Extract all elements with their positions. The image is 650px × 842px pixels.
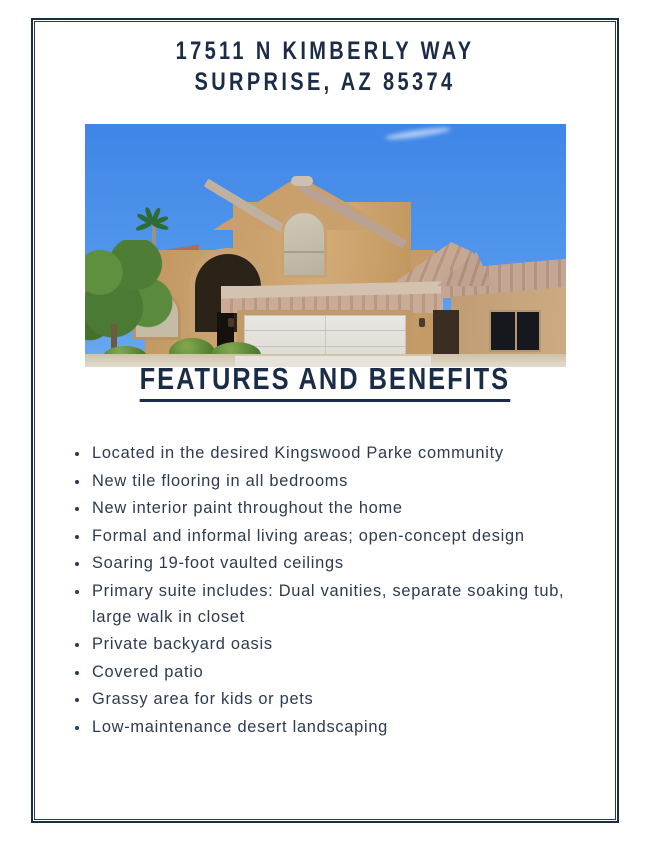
address-line-1: 17511 N KIMBERLY WAY	[92, 36, 558, 67]
gable-peak-cap	[291, 176, 313, 186]
coach-light-right	[419, 318, 425, 327]
features-section-heading: FEATURES AND BENEFITS	[34, 361, 616, 402]
property-photo	[85, 124, 566, 367]
list-item: Private backyard oasis	[70, 632, 590, 658]
arched-upper-window	[281, 210, 327, 278]
list-item: New interior paint throughout the home	[70, 496, 590, 522]
palm-tree-fronds	[138, 212, 172, 232]
neighbor-house-window	[489, 310, 541, 352]
list-item: Formal and informal living areas; open-c…	[70, 524, 590, 550]
front-yard-tree	[85, 240, 175, 348]
list-item: New tile flooring in all bedrooms	[70, 469, 590, 495]
features-list: Located in the desired Kingswood Parke c…	[70, 441, 590, 743]
list-item: Grassy area for kids or pets	[70, 687, 590, 713]
list-item: Low-maintenance desert landscaping	[70, 715, 590, 741]
property-address: 17511 N KIMBERLY WAY SURPRISE, AZ 85374	[34, 36, 616, 98]
list-item: Located in the desired Kingswood Parke c…	[70, 441, 590, 467]
flyer-page: 17511 N KIMBERLY WAY SURPRISE, AZ 85374	[0, 0, 650, 842]
list-item: Covered patio	[70, 660, 590, 686]
address-line-2: SURPRISE, AZ 85374	[92, 67, 558, 98]
list-item: Primary suite includes: Dual vanities, s…	[70, 579, 590, 630]
property-photo-scene	[85, 124, 566, 367]
list-item: Soaring 19-foot vaulted ceilings	[70, 551, 590, 577]
features-heading-text: FEATURES AND BENEFITS	[140, 361, 510, 402]
coach-light-left	[228, 318, 234, 327]
